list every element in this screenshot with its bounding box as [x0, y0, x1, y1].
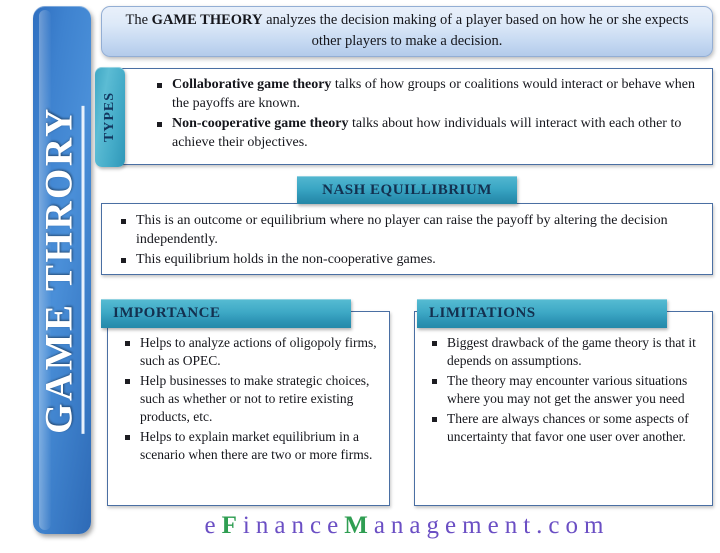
- brand-letter: n: [291, 512, 310, 539]
- list-item: This is an outcome or equilibrium where …: [116, 212, 698, 250]
- brand-letter: m: [584, 512, 609, 539]
- limitations-header-label: LIMITATIONS: [429, 305, 536, 322]
- brand-letter: F: [222, 512, 243, 539]
- list-item: Helps to analyze actions of oligopoly fi…: [120, 334, 379, 370]
- nash-equilibrium-header-label: NASH EQUILLIBRIUM: [322, 182, 492, 199]
- definition-banner: The GAME THEORY analyzes the decision ma…: [101, 6, 713, 57]
- list-item: Help businesses to make strategic choice…: [120, 372, 379, 426]
- brand-letter: e: [445, 512, 462, 539]
- footer: eFinanceManagement.com: [101, 508, 713, 544]
- limitations-list: Biggest drawback of the game theory is t…: [427, 334, 702, 446]
- list-item: Helps to explain market equilibrium in a…: [120, 428, 379, 464]
- nash-equilibrium-box: This is an outcome or equilibrium where …: [101, 203, 713, 275]
- definition-text: The GAME THEORY analyzes the decision ma…: [124, 10, 690, 52]
- brand-letter: n: [256, 512, 275, 539]
- brand-wordmark: eFinanceManagement.com: [205, 512, 610, 540]
- definition-bold-term: GAME THEORY: [152, 12, 263, 28]
- list-item: Biggest drawback of the game theory is t…: [427, 334, 702, 370]
- brand-letter: g: [427, 512, 446, 539]
- importance-box: Helps to analyze actions of oligopoly fi…: [107, 311, 390, 506]
- definition-rest: analyzes the decision making of a player…: [262, 12, 688, 49]
- infographic-canvas: GAME THRORY The GAME THEORY analyzes the…: [0, 0, 720, 553]
- brand-letter: o: [566, 512, 585, 539]
- types-tab: TYPES: [95, 67, 125, 167]
- list-item: Non-cooperative game theory talks about …: [152, 115, 698, 153]
- list-item: The theory may encounter various situati…: [427, 372, 702, 408]
- limitations-header: LIMITATIONS: [417, 299, 667, 328]
- brand-letter: m: [462, 512, 487, 539]
- types-tab-label: TYPES: [102, 92, 118, 142]
- page-title: GAME THRORY: [40, 106, 85, 434]
- brand-letter: a: [274, 512, 291, 539]
- importance-list: Helps to analyze actions of oligopoly fi…: [120, 334, 379, 464]
- brand-letter: M: [344, 512, 374, 539]
- nash-equilibrium-header: NASH EQUILLIBRIUM: [297, 176, 517, 204]
- list-item: Collaborative game theory talks of how g…: [152, 76, 698, 114]
- definition-lead: The: [126, 12, 152, 28]
- brand-letter: a: [409, 512, 426, 539]
- types-item-0-bold: Collaborative game theory: [172, 77, 331, 92]
- brand-letter: e: [205, 512, 222, 539]
- list-item: This equilibrium holds in the non-cooper…: [116, 251, 698, 270]
- types-item-1-bold: Non-cooperative game theory: [172, 116, 349, 131]
- brand-letter: e: [488, 512, 505, 539]
- types-box: Collaborative game theory talks of how g…: [121, 68, 713, 165]
- brand-letter: c: [548, 512, 565, 539]
- brand-letter: n: [505, 512, 524, 539]
- brand-letter: t: [523, 512, 536, 539]
- brand-letter: n: [391, 512, 410, 539]
- brand-letter: c: [310, 512, 327, 539]
- list-item: There are always chances or some aspects…: [427, 410, 702, 446]
- nash-list: This is an outcome or equilibrium where …: [116, 212, 698, 270]
- brand-letter: i: [243, 512, 256, 539]
- importance-header: IMPORTANCE: [101, 299, 351, 328]
- vertical-title-bar: GAME THRORY: [33, 6, 91, 534]
- types-list: Collaborative game theory talks of how g…: [152, 76, 698, 153]
- brand-letter: a: [374, 512, 391, 539]
- brand-letter: e: [327, 512, 344, 539]
- limitations-box: Biggest drawback of the game theory is t…: [414, 311, 713, 506]
- importance-header-label: IMPORTANCE: [113, 305, 221, 322]
- brand-letter: .: [536, 512, 548, 539]
